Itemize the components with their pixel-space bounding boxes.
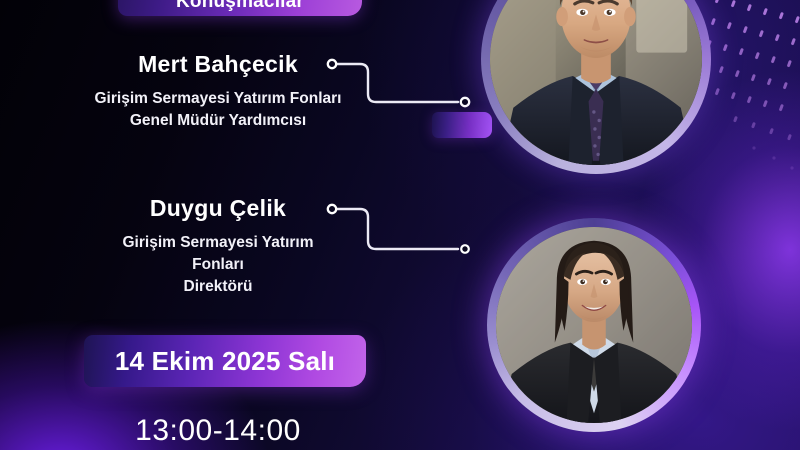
speaker-1-photo-frame — [481, 0, 711, 174]
speaker-1-name: Mert Bahçecik — [0, 52, 436, 77]
connector-top-end-dot — [461, 98, 469, 106]
header-badge-konusmacilar: Konuşmacılar — [118, 0, 362, 16]
speaker-2-name: Duygu Çelik — [0, 196, 436, 221]
connector-bottom-end-dot — [461, 245, 469, 253]
speaker-1-title-line-2: Genel Müdür Yardımcısı — [0, 110, 436, 132]
speaker-2-title-line-3: Direktörü — [0, 276, 436, 298]
date-badge-label: 14 Ekim 2025 Salı — [115, 346, 335, 377]
speaker-announcement-poster: Konuşmacılar Mert Bahçecik Girişim Serma… — [0, 0, 800, 450]
header-badge-label: Konuşmacılar — [176, 0, 304, 13]
date-badge: 14 Ekim 2025 Salı — [84, 335, 366, 387]
speaker-2-title: Girişim Sermayesi Yatırım Fonları Direkt… — [0, 232, 436, 298]
speaker-2-photo-frame — [487, 218, 701, 432]
accent-badge — [432, 112, 492, 138]
speaker-block-1: Mert Bahçecik Girişim Sermayesi Yatırım … — [0, 52, 436, 132]
speaker-2-title-line-2: Fonları — [0, 254, 436, 276]
speaker-1-title: Girişim Sermayesi Yatırım Fonları Genel … — [0, 88, 436, 132]
speaker-2-photo — [496, 227, 692, 423]
speaker-2-title-line-1: Girişim Sermayesi Yatırım — [0, 232, 436, 254]
speaker-block-2: Duygu Çelik Girişim Sermayesi Yatırım Fo… — [0, 196, 436, 298]
speaker-1-title-line-1: Girişim Sermayesi Yatırım Fonları — [0, 88, 436, 110]
event-time: 13:00-14:00 — [0, 414, 436, 448]
